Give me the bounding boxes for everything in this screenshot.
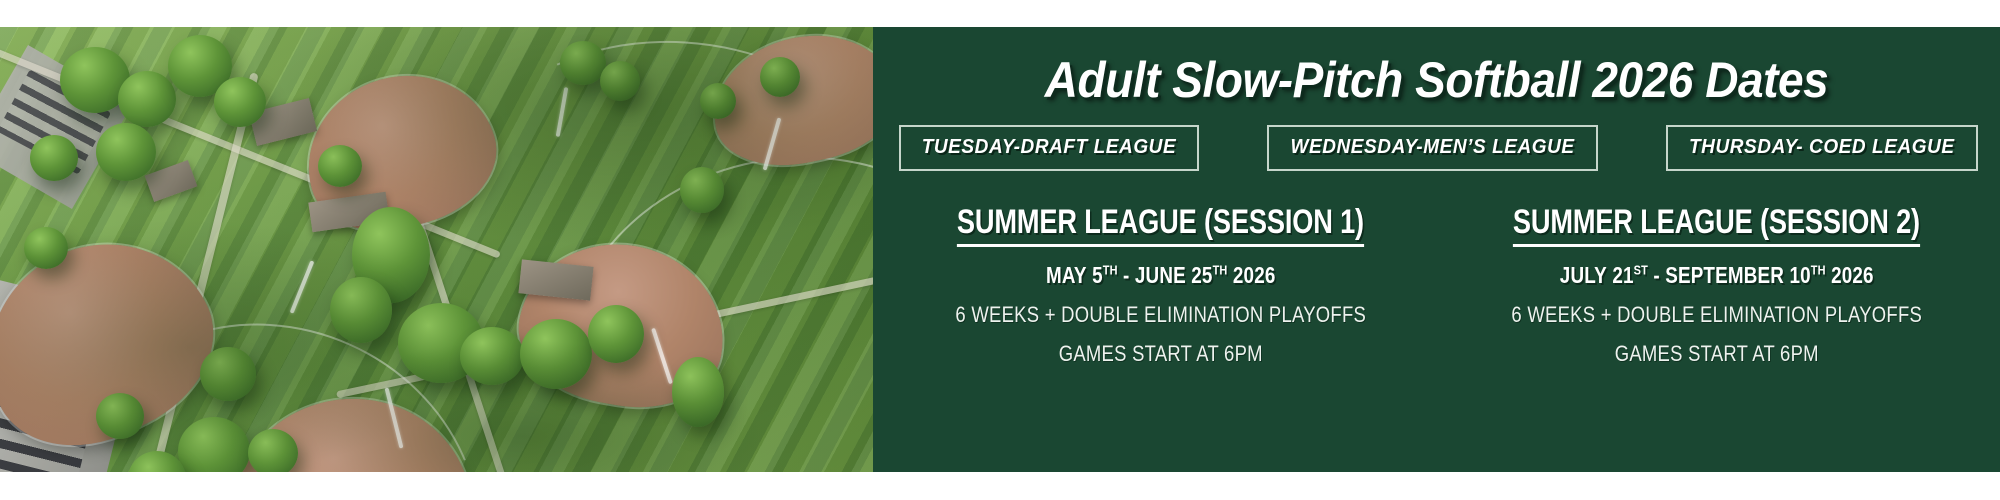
session-1-date-separator: - [1118,262,1135,288]
session-1-detail-format: 6 WEEKS + DOUBLE ELIMINATION PLAYOFFS [932,302,1389,328]
aerial-softball-complex-photo [0,27,873,472]
photo-shadow-overlay [0,27,873,472]
info-panel: Adult Slow-Pitch Softball 2026 Dates TUE… [873,27,2000,472]
session-2-start-day: 21 [1612,262,1633,288]
session-2-detail-time: GAMES START AT 6PM [1488,341,1945,367]
session-1-end-ordinal: TH [1213,262,1228,277]
session-2-end-ordinal: TH [1810,262,1825,277]
session-2-block: SUMMER LEAGUE (SESSION 2) JULY 21ST - SE… [1439,203,1995,367]
session-1-end-day: 25 [1191,262,1212,288]
league-box-wednesday-label: WEDNESDAY-MEN’S LEAGUE [1291,136,1575,159]
league-box-tuesday-label: TUESDAY-DRAFT LEAGUE [922,136,1177,159]
session-2-start-ordinal: ST [1633,262,1647,277]
session-1-start-day: 5 [1092,262,1103,288]
league-box-row: TUESDAY-DRAFT LEAGUE WEDNESDAY-MEN’S LEA… [899,125,1978,171]
league-box-thursday[interactable]: THURSDAY- COED LEAGUE [1666,125,1978,171]
session-2-date-separator: - [1647,262,1664,288]
league-box-thursday-label: THURSDAY- COED LEAGUE [1689,136,1955,159]
session-2-start-month: JULY [1559,262,1606,288]
session-1-dates: MAY 5TH - JUNE 25TH 2026 [938,262,1384,289]
session-2-year: 2026 [1831,262,1874,288]
session-2-end-month: SEPTEMBER [1665,262,1784,288]
sessions-row: SUMMER LEAGUE (SESSION 1) MAY 5TH - JUNE… [883,203,1994,367]
session-2-end-day: 10 [1789,262,1810,288]
session-1-detail-time: GAMES START AT 6PM [932,341,1389,367]
session-2-dates: JULY 21ST - SEPTEMBER 10TH 2026 [1493,262,1939,289]
session-1-heading: SUMMER LEAGUE (SESSION 1) [957,203,1364,247]
league-box-tuesday[interactable]: TUESDAY-DRAFT LEAGUE [899,125,1199,171]
session-1-start-month: MAY [1046,262,1087,288]
session-2-heading: SUMMER LEAGUE (SESSION 2) [1513,203,1920,247]
session-1-start-ordinal: TH [1103,262,1118,277]
page-title: Adult Slow-Pitch Softball 2026 Dates [918,51,1955,109]
session-1-year: 2026 [1233,262,1276,288]
session-2-detail-format: 6 WEEKS + DOUBLE ELIMINATION PLAYOFFS [1488,302,1945,328]
promo-banner: Adult Slow-Pitch Softball 2026 Dates TUE… [0,0,2000,500]
session-1-end-month: JUNE [1135,262,1186,288]
session-1-block: SUMMER LEAGUE (SESSION 1) MAY 5TH - JUNE… [883,203,1439,367]
league-box-wednesday[interactable]: WEDNESDAY-MEN’S LEAGUE [1267,125,1598,171]
